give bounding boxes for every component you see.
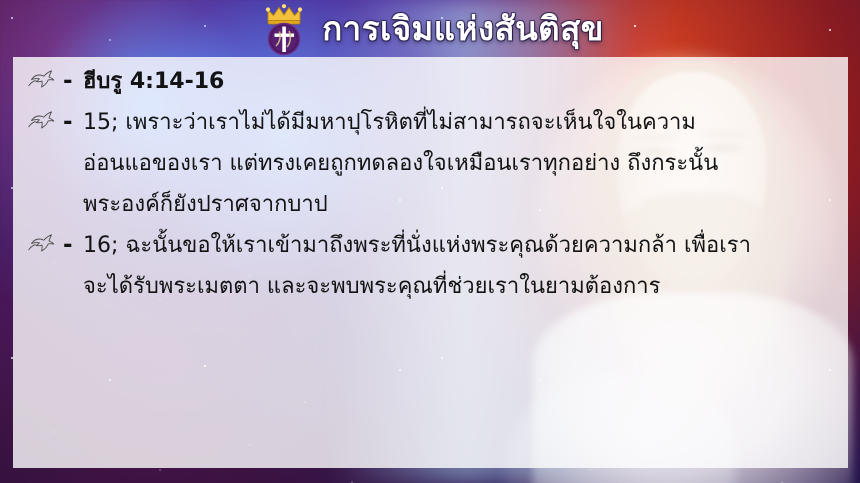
verse-list: -ฮีบรู 4:14-16-15; เพราะว่าเราไม่ได้มีมห… [13, 57, 848, 307]
verse-entry-line: -ฮีบรู 4:14-16 [27, 61, 834, 102]
verse-text: 16; ฉะนั้นขอให้เราเข้ามาถึงพระที่นั่งแห่… [83, 225, 751, 266]
verse-text: พระองค์ก็ยังปราศจากบาป [83, 184, 328, 225]
bullet-spacer [27, 184, 63, 190]
bullet-spacer [27, 143, 63, 149]
bullet-spacer [27, 266, 63, 272]
verse-continuation-line: พระองค์ก็ยังปราศจากบาป [27, 184, 834, 225]
verse-text: อ่อนแอของเรา แต่ทรงเคยถูกทดลองใจเหมือนเร… [83, 143, 718, 184]
verse-panel: -ฮีบรู 4:14-16-15; เพราะว่าเราไม่ได้มีมห… [13, 57, 848, 468]
dove-icon [27, 61, 63, 89]
verse-entry-line: -15; เพราะว่าเราไม่ได้มีมหาปุโรหิตที่ไม่… [27, 102, 834, 143]
verse-text: จะได้รับพระเมตตา และจะพบพระคุณที่ช่วยเรา… [83, 266, 660, 307]
page-title: การเจิมแห่งสันติสุข [322, 12, 604, 45]
verse-dash: - [63, 225, 83, 266]
dove-icon [27, 102, 63, 130]
verse-continuation-line: จะได้รับพระเมตตา และจะพบพระคุณที่ช่วยเรา… [27, 266, 834, 307]
verse-dash: - [63, 102, 83, 143]
slide-header: การเจิมแห่งสันติสุข [0, 0, 860, 58]
verse-text: 15; เพราะว่าเราไม่ได้มีมหาปุโรหิตที่ไม่ส… [83, 102, 696, 143]
crown-cross-emblem [256, 1, 312, 57]
slide-canvas: การเจิมแห่งสันติสุข -ฮีบรู 4:14-16-15; เ… [0, 0, 860, 483]
dove-icon [27, 225, 63, 253]
crown-icon [266, 4, 302, 24]
verse-entry-line: -16; ฉะนั้นขอให้เราเข้ามาถึงพระที่นั่งแห… [27, 225, 834, 266]
verse-text: ฮีบรู 4:14-16 [83, 61, 224, 102]
verse-dash: - [63, 61, 83, 102]
verse-continuation-line: อ่อนแอของเรา แต่ทรงเคยถูกทดลองใจเหมือนเร… [27, 143, 834, 184]
